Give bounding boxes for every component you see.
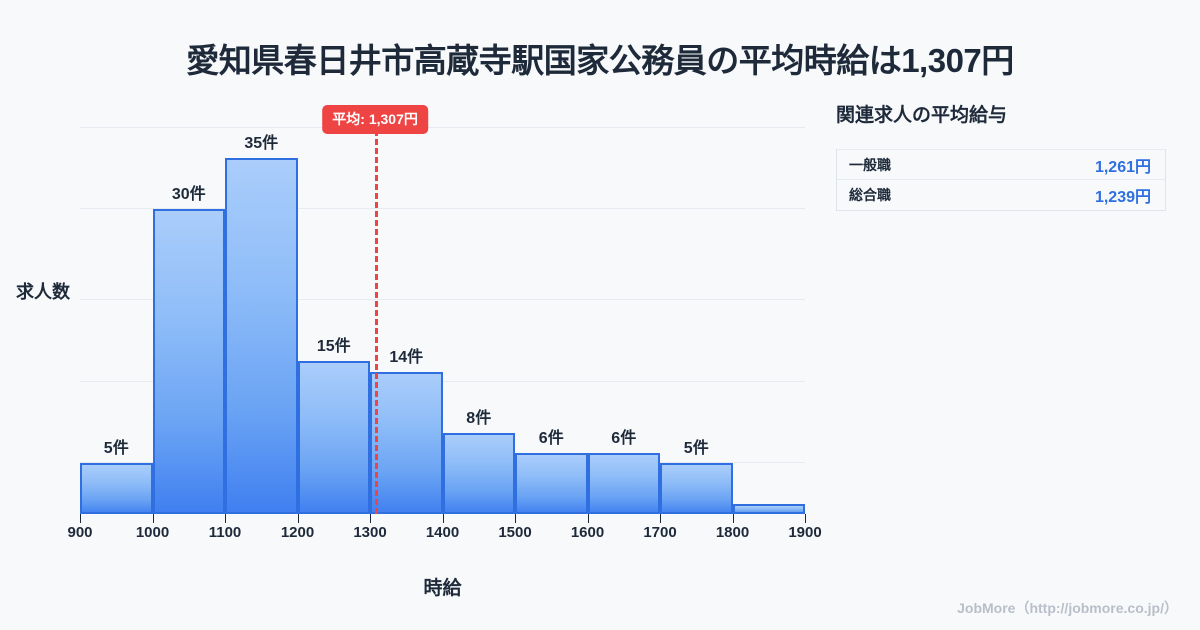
x-tick-mark <box>515 514 516 523</box>
bar-value-label: 30件 <box>153 180 226 204</box>
bar-value-label: 6件 <box>515 424 588 448</box>
related-salary-row-label: 一般職 <box>849 155 891 175</box>
bar <box>153 209 226 514</box>
related-salary-row-label: 総合職 <box>849 185 891 205</box>
related-salary-row-value: 1,239円 <box>1095 183 1151 207</box>
x-tick-label: 1900 <box>765 524 845 541</box>
bar-value-label: 15件 <box>298 332 371 356</box>
bar <box>298 361 371 514</box>
x-tick-label: 1800 <box>693 524 773 541</box>
bar <box>225 158 298 514</box>
bar-value-label: 14件 <box>370 343 443 367</box>
histogram-chart: 求人数 時給 5件30件35件15件14件8件6件6件5件 9001000110… <box>0 0 830 630</box>
x-tick-label: 1500 <box>475 524 555 541</box>
bar <box>443 433 516 514</box>
x-tick-mark <box>588 514 589 523</box>
x-tick-mark <box>660 514 661 523</box>
bar-value-label: 8件 <box>443 404 516 428</box>
x-tick-label: 1600 <box>548 524 628 541</box>
average-badge: 平均: 1,307円 <box>322 105 428 134</box>
bar-value-label: 5件 <box>80 434 153 458</box>
plot-area: 5件30件35件15件14件8件6件6件5件 <box>80 97 805 514</box>
x-tick-mark <box>805 514 806 523</box>
related-salary-panel: 関連求人の平均給与 一般職1,261円総合職1,239円 <box>836 100 1166 211</box>
gridline <box>80 127 805 128</box>
footer-attribution: JobMore（http://jobmore.co.jp/） <box>957 598 1178 618</box>
x-tick-label: 1700 <box>620 524 700 541</box>
x-tick-mark <box>298 514 299 523</box>
bar-value-label: 35件 <box>225 129 298 153</box>
x-tick-mark <box>733 514 734 523</box>
x-tick-label: 1000 <box>113 524 193 541</box>
x-tick-label: 1100 <box>185 524 265 541</box>
x-tick-label: 1400 <box>403 524 483 541</box>
related-salary-title: 関連求人の平均給与 <box>836 100 1166 127</box>
related-salary-row-value: 1,261円 <box>1095 153 1151 177</box>
bar <box>660 463 733 514</box>
y-axis-label: 求人数 <box>8 278 78 304</box>
x-tick-label: 1300 <box>330 524 410 541</box>
bar <box>80 463 153 514</box>
related-salary-row: 一般職1,261円 <box>837 149 1165 180</box>
bar <box>588 453 661 514</box>
x-tick-label: 1200 <box>258 524 338 541</box>
x-tick-label: 900 <box>40 524 120 541</box>
x-tick-mark <box>370 514 371 523</box>
related-salary-table: 一般職1,261円総合職1,239円 <box>836 149 1166 211</box>
x-tick-mark <box>80 514 81 523</box>
x-tick-mark <box>443 514 444 523</box>
chart-page: 愛知県春日井市高蔵寺駅国家公務員の平均時給は1,307円 求人数 時給 5件30… <box>0 0 1200 630</box>
bar-value-label: 5件 <box>660 434 733 458</box>
x-tick-mark <box>225 514 226 523</box>
x-axis-label: 時給 <box>80 573 805 600</box>
bar-value-label: 6件 <box>588 424 661 448</box>
related-salary-row: 総合職1,239円 <box>837 180 1165 211</box>
bar <box>515 453 588 514</box>
x-tick-mark <box>153 514 154 523</box>
bar <box>370 372 443 514</box>
average-line <box>375 130 378 514</box>
